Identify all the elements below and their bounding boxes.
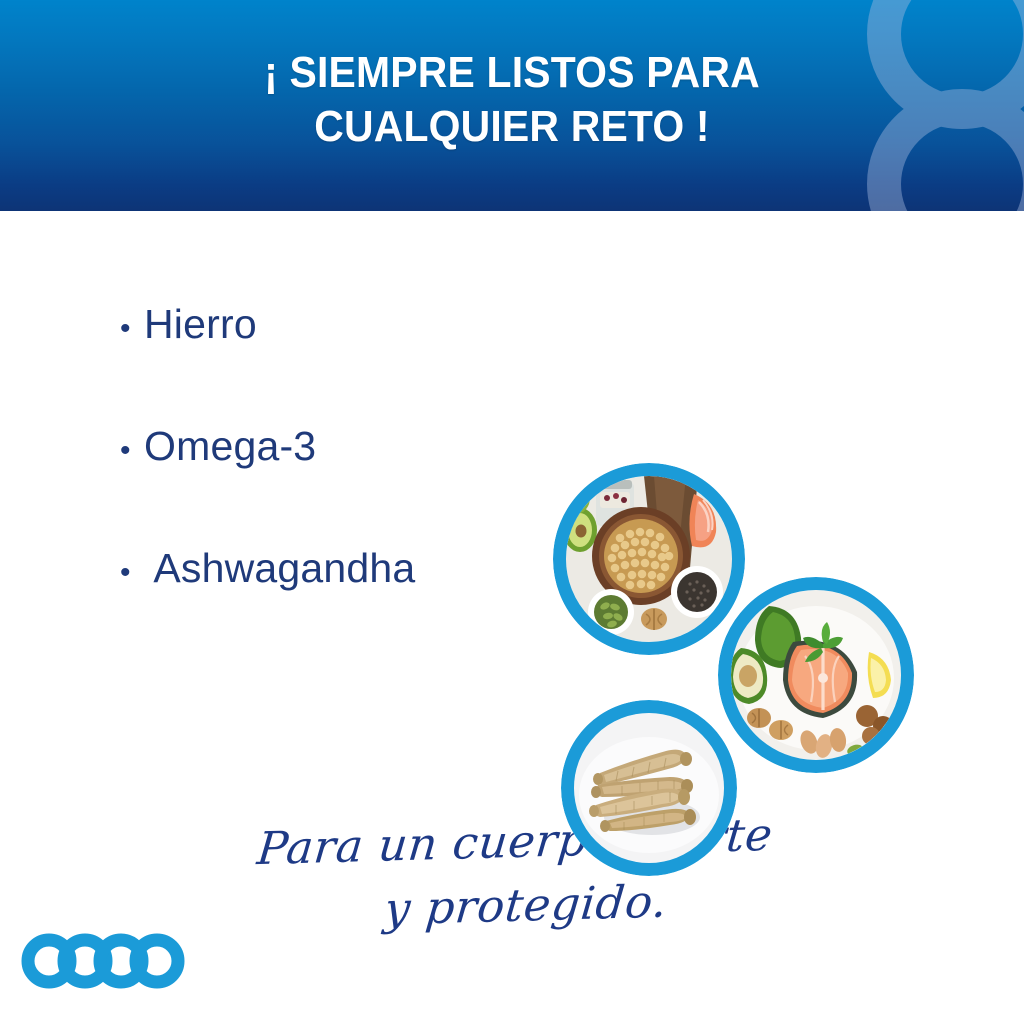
iron-foods-image (566, 476, 732, 642)
header-banner: ¡ SIEMPRE LISTOS PARA CUALQUIER RETO ! (0, 0, 1024, 211)
list-item-label: Omega-3 (144, 423, 316, 470)
four-rings-logo-icon[interactable] (16, 932, 206, 990)
poster-canvas: ¡ SIEMPRE LISTOS PARA CUALQUIER RETO ! •… (0, 0, 1024, 1024)
ashwagandha-root-image (574, 713, 724, 863)
list-item: • Hierro (120, 301, 540, 423)
bullet-marker-icon: • (120, 436, 144, 466)
content-area: • Hierro • Omega-3 • Ashwagandha (0, 211, 1024, 1024)
list-item: • Omega-3 (120, 423, 540, 545)
page-title: ¡ SIEMPRE LISTOS PARA CUALQUIER RETO ! (36, 46, 988, 153)
nutrient-list: • Hierro • Omega-3 • Ashwagandha (120, 301, 540, 667)
ashwagandha-root-photo (561, 700, 737, 876)
bullet-marker-icon: • (120, 314, 144, 344)
list-item: • Ashwagandha (120, 545, 540, 667)
list-item-label: Ashwagandha (144, 545, 415, 592)
iron-rich-foods-photo (553, 463, 745, 655)
list-item-label: Hierro (144, 301, 257, 348)
omega3-foods-image (731, 590, 901, 760)
omega3-foods-photo (718, 577, 914, 773)
bullet-marker-icon: • (120, 558, 144, 588)
